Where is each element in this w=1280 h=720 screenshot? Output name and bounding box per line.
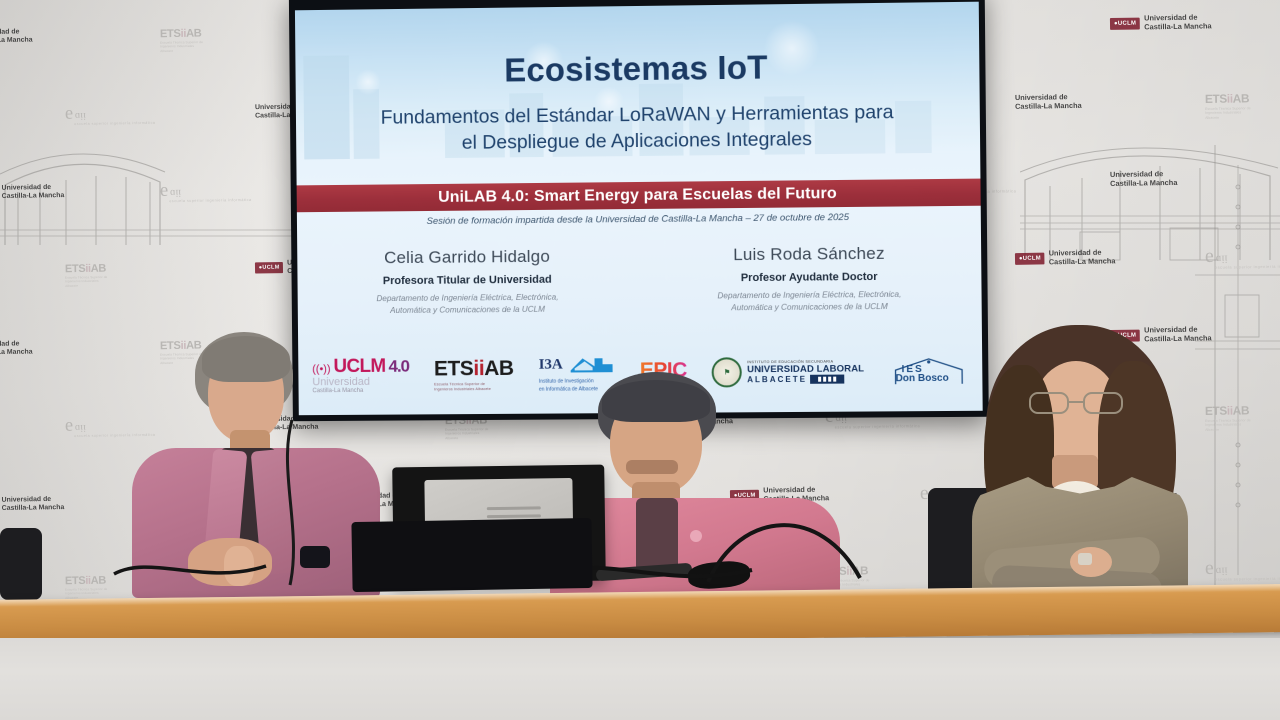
presenter-dept-line2: Automática y Comunicaciones de la UCLM <box>298 303 638 318</box>
wall-logo-esii: e ɑᴉᴉescuela superior ingeniería informá… <box>65 105 156 127</box>
wall-esii-sub: escuela superior ingeniería informática <box>1215 264 1280 270</box>
wall-logo-uclm-box: ●UCLMUniversidad deCastilla-La Mancha <box>0 184 64 201</box>
floor-area <box>0 638 1280 720</box>
presenter-block-2: Luis Roda Sánchez Profesor Ayudante Doct… <box>637 243 981 315</box>
ring <box>1078 553 1092 565</box>
wall-logo-etsiiab: ETSiiABEscuela Técnica Superior de Ingen… <box>1205 91 1253 119</box>
hair-front <box>602 380 710 422</box>
presenter-role: Profesor Ayudante Doctor <box>638 270 982 285</box>
presenter-dept-line2: Automática y Comunicaciones de la UCLM <box>638 300 982 315</box>
logo-etsiiab: ETSiiAB Escuela Técnica Superior de Inge… <box>434 357 514 392</box>
slide-presenters: Celia Garrido Hidalgo Profesora Titular … <box>297 243 982 318</box>
wall-uclm-label: Universidad deCastilla-La Mancha <box>1049 248 1116 266</box>
slide-banner-text: UniLAB 4.0: Smart Energy para Escuelas d… <box>438 185 837 207</box>
esii-e-glyph: e <box>65 418 73 433</box>
wall-logo-esii: e ɑᴉᴉescuela superior ingeniería informá… <box>1205 246 1280 270</box>
wall-logo-uclm-box: ●UCLMUniversidad deCastilla-La Mancha <box>1110 13 1212 32</box>
presentation-slide: Ecosistemas IoT Fundamentos del Estándar… <box>295 2 983 416</box>
conference-room-photo: Universidad deCastilla-La ManchaETSiiABE… <box>0 0 1280 720</box>
cable-left-desk <box>110 552 270 588</box>
slide-title: Ecosistemas IoT <box>295 46 979 92</box>
wall-etsiiab-mark: ETSiiAB <box>65 262 109 276</box>
wall-uclm-label: Universidad deCastilla-La Mancha <box>1015 93 1082 111</box>
esii-sub-glyph: ɑᴉᴉ <box>1215 251 1228 263</box>
wall-uclm-label: Universidad deCastilla-La Mancha <box>1144 13 1212 31</box>
wall-logo-uclm-text: Universidad deCastilla-La Mancha <box>0 28 33 45</box>
wall-etsiiab-mark: ETSiiAB <box>160 26 205 40</box>
wall-uclm-mark: ●UCLM <box>255 262 284 274</box>
logo-uclm40-version: 4.0 <box>388 357 409 377</box>
wall-logo-uclm-box: ●UCLMUniversidad deCastilla-La Mancha <box>0 496 64 513</box>
wall-logo-etsiiab: ETSiiABEscuela Técnica Superior de Ingen… <box>65 262 110 288</box>
logo-ies-line2: Don Bosco <box>896 373 949 384</box>
esii-sub-glyph: ɑᴉᴉ <box>169 186 181 197</box>
wall-uclm-label: Universidad deCastilla-La Mancha <box>2 184 65 201</box>
wall-uclm-mark: ●UCLM <box>1015 252 1045 264</box>
panelist-right <box>950 325 1210 600</box>
wall-esii-sub: escuela superior ingeniería informática <box>74 121 155 127</box>
wall-etsiiab-sub: Escuela Técnica Superior de Ingenieros I… <box>65 275 109 287</box>
esii-e-glyph: e <box>1205 247 1214 263</box>
presenter-department: Departamento de Ingeniería Eléctrica, El… <box>298 291 638 317</box>
projection-screen: Ecosistemas IoT Fundamentos del Estándar… <box>289 0 989 421</box>
wall-uclm-label: Universidad deCastilla-La Mancha <box>0 28 33 45</box>
chair-left <box>0 528 42 600</box>
equipment-case <box>351 518 592 592</box>
wall-uclm-label: Universidad deCastilla-La Mancha <box>1110 170 1178 188</box>
wall-logo-esii: e ɑᴉᴉescuela superior ingeniería informá… <box>1205 558 1280 582</box>
eyeglasses-icon <box>1026 389 1128 415</box>
wall-etsiiab-sub: Escuela Técnica Superior de Ingenieros I… <box>1205 106 1253 119</box>
presenter-name: Luis Roda Sánchez <box>637 243 981 266</box>
slide-banner: UniLAB 4.0: Smart Energy para Escuelas d… <box>297 179 981 213</box>
wall-logo-etsiiab: ETSiiABEscuela Técnica Superior de Ingen… <box>160 26 205 53</box>
esii-e-glyph: e <box>160 183 169 198</box>
wall-etsiiab-sub: Escuela Técnica Superior de Ingenieros I… <box>160 40 205 53</box>
wall-logo-uclm-text: Universidad deCastilla-La Mancha <box>1110 170 1178 188</box>
wall-logo-esii: e ɑᴉᴉescuela superior ingeniería informá… <box>160 181 252 204</box>
slide-subtitle: Fundamentos del Estándar LoRaWAN y Herra… <box>335 99 939 158</box>
presenter-block-1: Celia Garrido Hidalgo Profesora Titular … <box>297 246 638 317</box>
hair-front <box>202 336 290 382</box>
presenter-role: Profesora Titular de Universidad <box>297 273 637 288</box>
wall-uclm-mark: ●UCLM <box>1110 17 1140 29</box>
esii-sub-glyph: ɑᴉᴉ <box>74 109 86 120</box>
slide-date-line: Sesión de formación impartida desde la U… <box>297 211 981 228</box>
wall-logo-uclm-text: Universidad deCastilla-La Mancha <box>1015 93 1082 111</box>
esii-sub-glyph: ɑᴉᴉ <box>1215 563 1228 575</box>
wall-etsiiab-mark: ETSiiAB <box>1205 91 1253 106</box>
presenter-department: Departamento de Ingeniería Eléctrica, El… <box>638 288 982 315</box>
wall-esii-sub: escuela superior ingeniería informática <box>169 198 251 204</box>
wall-etsiiab-sub: Escuela Técnica Superior de Ingenieros I… <box>1205 418 1253 431</box>
wall-etsiiab-mark: ETSiiAB <box>1205 403 1253 418</box>
moustache <box>626 460 678 474</box>
wall-esii-sub: escuela superior ingeniería informática <box>1215 576 1280 582</box>
wall-etsiiab-sub: Escuela Técnica Superior de Ingenieros I… <box>445 427 490 440</box>
wall-uclm-label: Universidad deCastilla-La Mancha <box>0 340 33 357</box>
wall-logo-etsiiab: ETSiiABEscuela Técnica Superior de Ingen… <box>1205 403 1253 431</box>
wall-uclm-label: Universidad deCastilla-La Mancha <box>2 496 65 513</box>
esii-e-glyph: e <box>65 106 73 121</box>
wall-logo-uclm-box: ●UCLMUniversidad deCastilla-La Mancha <box>1015 248 1116 266</box>
logo-etsiiab-main: ETSiiAB <box>434 357 514 382</box>
logo-etsiiab-sub: Escuela Técnica Superior de Ingenieros I… <box>434 382 496 392</box>
wall-logo-uclm-text: Universidad deCastilla-La Mancha <box>0 340 33 357</box>
presenter-name: Celia Garrido Hidalgo <box>297 246 637 269</box>
